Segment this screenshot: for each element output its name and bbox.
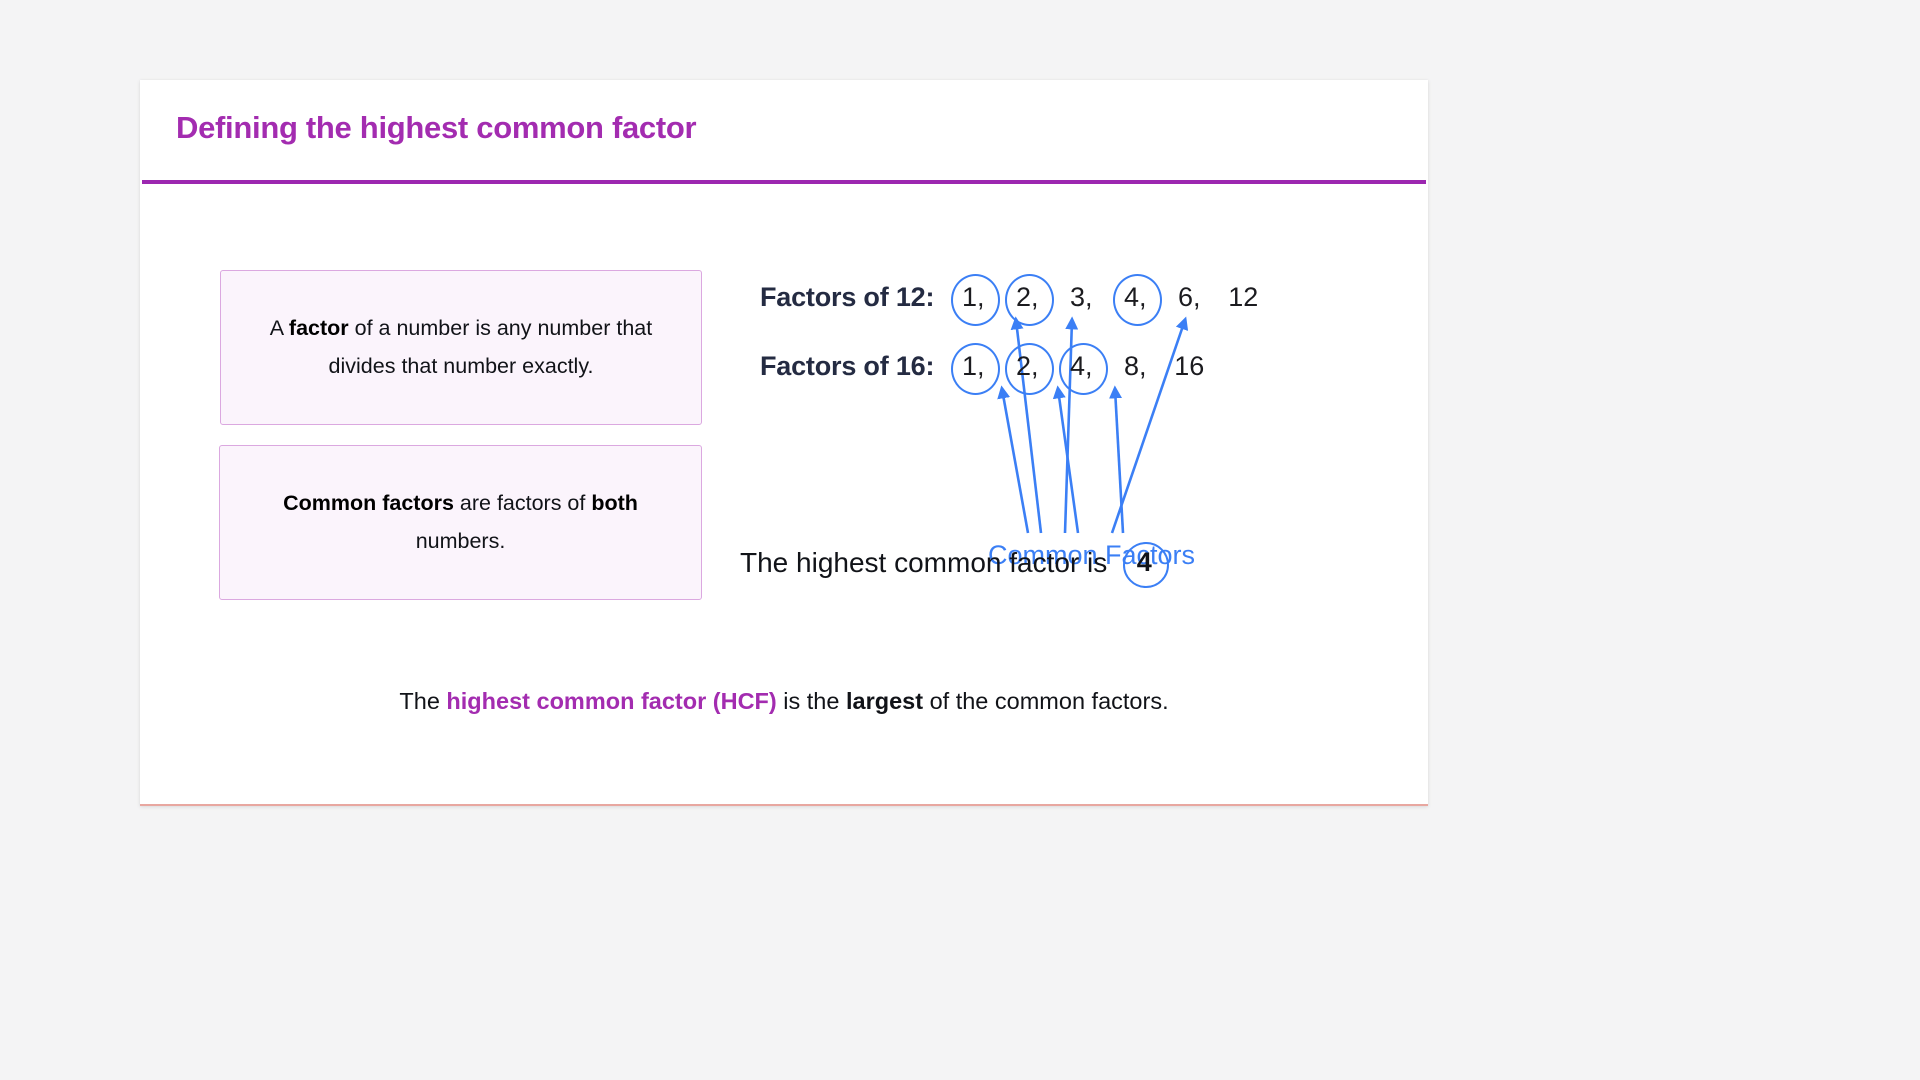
factor-value: 2, — [1016, 351, 1039, 381]
footer-fragment: highest common factor (HCF) — [446, 688, 776, 714]
page-title: Defining the highest common factor — [176, 110, 696, 146]
factor-value: 3, — [1070, 282, 1093, 312]
factor-item: 6, — [1162, 280, 1216, 315]
definition-box-factor: A factor of a number is any number that … — [220, 270, 702, 425]
hcf-statement: The highest common factor is 4 — [740, 545, 1165, 580]
factor-item-circled: 4, — [1054, 349, 1108, 384]
factor-item-circled: 1, — [946, 280, 1000, 315]
definition-fragment: both — [591, 491, 638, 515]
factor-item-circled: 2, — [1000, 349, 1054, 384]
factor-value: 4, — [1124, 282, 1147, 312]
factor-list-16: 1,2,4,8,16 — [946, 349, 1216, 384]
factor-item-circled: 4, — [1108, 280, 1162, 315]
hcf-value-circled: 4 — [1123, 545, 1165, 580]
factor-value: 6, — [1178, 282, 1201, 312]
definition-fragment: of a number is any number that divides t… — [329, 316, 653, 378]
footer-fragment: of the common factors. — [923, 688, 1169, 714]
factor-value: 4, — [1070, 351, 1093, 381]
factor-item: 16 — [1162, 349, 1216, 384]
hcf-value-number: 4 — [1137, 547, 1152, 577]
definition-fragment: A — [270, 316, 289, 340]
factor-value: 1, — [962, 282, 985, 312]
factor-value: 16 — [1174, 351, 1204, 381]
factor-value: 1, — [962, 351, 985, 381]
hcf-statement-text: The highest common factor is — [740, 547, 1107, 579]
footer-summary-line: The highest common factor (HCF) is the l… — [140, 688, 1428, 715]
definition-text-factor: A factor of a number is any number that … — [241, 310, 681, 385]
factor-item-circled: 1, — [946, 349, 1000, 384]
factor-item: 3, — [1054, 280, 1108, 315]
factor-item-circled: 2, — [1000, 280, 1054, 315]
definition-fragment: Common factors — [283, 491, 454, 515]
footer-fragment: The — [399, 688, 446, 714]
definition-fragment: are factors of — [454, 491, 591, 515]
factor-row-label-16: Factors of 16: — [760, 351, 934, 382]
slide-bottom-rule — [140, 804, 1428, 806]
slide-card: Defining the highest common factor A fac… — [140, 80, 1428, 806]
definition-text-common-factors: Common factors are factors of both numbe… — [240, 485, 681, 560]
factor-list-12: 1,2,3,4,6,12 — [946, 280, 1270, 315]
definition-box-common-factors: Common factors are factors of both numbe… — [219, 445, 702, 600]
factor-value: 2, — [1016, 282, 1039, 312]
footer-fragment: largest — [846, 688, 923, 714]
factor-row-12: Factors of 12: 1,2,3,4,6,12 — [760, 280, 1270, 315]
factor-value: 12 — [1228, 282, 1258, 312]
factor-item: 8, — [1108, 349, 1162, 384]
footer-fragment: is the — [777, 688, 846, 714]
factor-row-label-12: Factors of 12: — [760, 282, 934, 313]
definition-fragment: factor — [289, 316, 349, 340]
factor-item: 12 — [1216, 280, 1270, 315]
title-divider — [142, 180, 1426, 184]
factor-value: 8, — [1124, 351, 1147, 381]
slide-page: Defining the highest common factor A fac… — [0, 0, 1920, 1080]
factor-row-16: Factors of 16: 1,2,4,8,16 — [760, 349, 1216, 384]
definition-fragment: numbers. — [416, 529, 506, 553]
